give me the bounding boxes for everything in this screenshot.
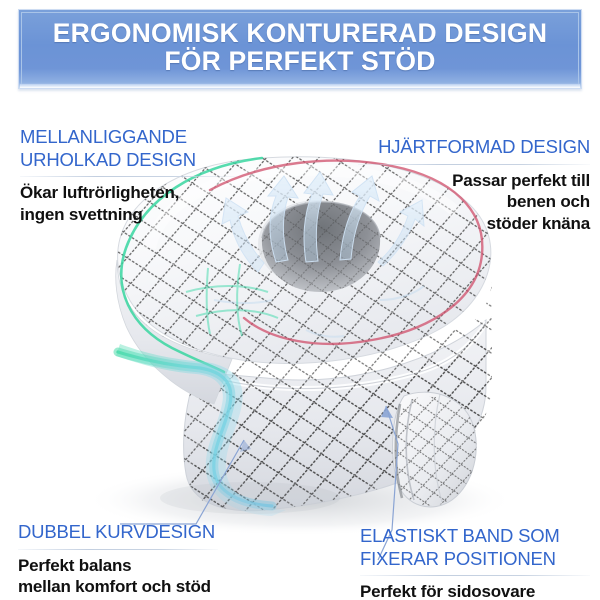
leader-line-curve	[120, 440, 244, 524]
leader-lines	[0, 0, 600, 600]
callout-heart-body: Passar perfekt till benen och stöder knä…	[352, 170, 590, 235]
callout-hollow-heading: MELLANLIGGANDE URHOLKAD DESIGN	[20, 126, 250, 171]
header-banner-inner: ERGONOMISK KONTURERAD DESIGN FÖR PERFEKT…	[21, 12, 579, 86]
callout-heart-heading: HJÄRTFORMAD DESIGN	[352, 136, 590, 159]
infographic-root: ERGONOMISK KONTURERAD DESIGN FÖR PERFEKT…	[0, 0, 600, 600]
leader-arrow-strap	[381, 406, 393, 418]
callout-heart-design: HJÄRTFORMAD DESIGN Passar perfekt till b…	[352, 136, 590, 235]
page-title: ERGONOMISK KONTURERAD DESIGN FÖR PERFEKT…	[53, 19, 547, 80]
callout-strap-body: Perfekt för sidosovare	[360, 581, 592, 600]
callout-strap-divider	[360, 575, 590, 576]
callout-curve-body: Perfekt balans mellan komfort och stöd	[18, 555, 266, 599]
callout-hollow-design: MELLANLIGGANDE URHOLKAD DESIGN Ökar luft…	[20, 126, 250, 226]
callout-curve-divider	[18, 549, 218, 550]
header-banner-shine	[20, 84, 580, 88]
callout-elastic-strap: ELASTISKT BAND SOM FIXERAR POSITIONEN Pe…	[360, 525, 592, 600]
callout-double-curve: DUBBEL KURVDESIGN Perfekt balans mellan …	[18, 521, 266, 598]
leader-arrow-curve	[240, 440, 251, 452]
callout-heart-divider	[358, 164, 590, 165]
callout-curve-heading: DUBBEL KURVDESIGN	[18, 521, 266, 544]
callout-hollow-divider	[20, 176, 238, 177]
callout-hollow-body: Ökar luftrörligheten, ingen svettning	[20, 182, 250, 226]
header-banner: ERGONOMISK KONTURERAD DESIGN FÖR PERFEKT…	[18, 9, 582, 89]
callout-strap-heading: ELASTISKT BAND SOM FIXERAR POSITIONEN	[360, 525, 592, 570]
